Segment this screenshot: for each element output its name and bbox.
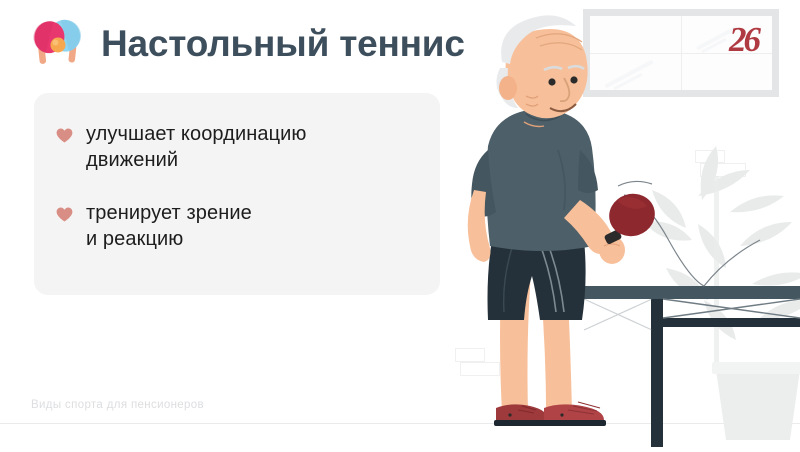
head	[496, 15, 587, 126]
page-title: Настольный теннис	[26, 18, 465, 70]
table-tennis-illustration	[440, 0, 800, 452]
benefits-card: улучшает координацию движений тренирует …	[34, 93, 440, 295]
list-item: улучшает координацию движений	[56, 121, 410, 174]
plant-pot-icon	[712, 362, 800, 440]
list-item-label: тренирует зрение и реакцию	[86, 200, 252, 253]
footer-caption: Виды спорта для пенсионеров	[31, 399, 204, 411]
paddle-icon	[604, 188, 661, 245]
heart-icon	[56, 207, 73, 222]
slide-canvas: 26 Настольный теннис улучшает коорди	[0, 0, 800, 452]
heart-icon	[56, 128, 73, 143]
list-item-label: улучшает координацию движений	[86, 121, 307, 174]
list-item: тренирует зрение и реакцию	[56, 200, 410, 253]
plant-silhouette-icon	[644, 146, 800, 362]
ping-pong-paddles-icon	[26, 18, 90, 70]
page-title-text: Настольный теннис	[101, 23, 465, 65]
